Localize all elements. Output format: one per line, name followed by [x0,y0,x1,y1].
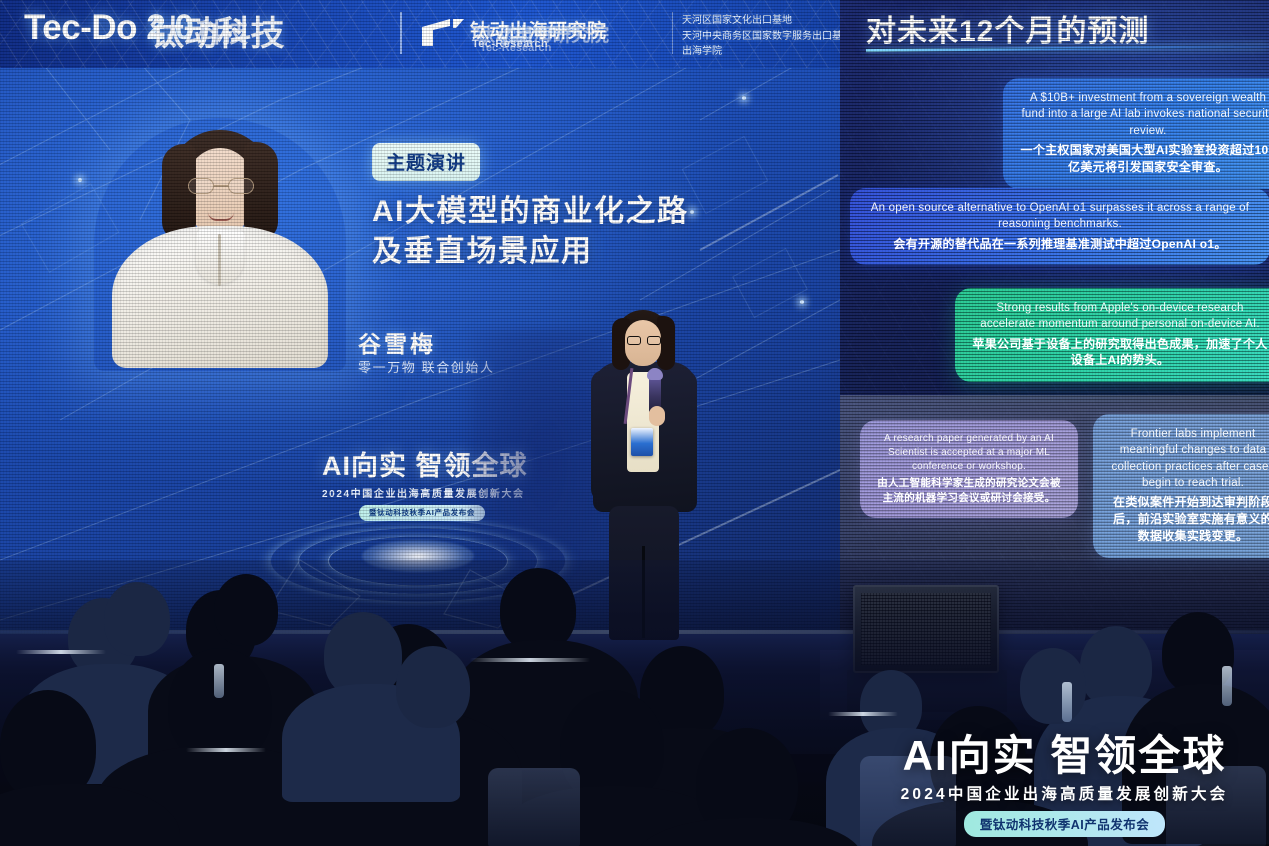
conference-subevent-pill: 暨钛动科技秋季AI产品发布会 [964,811,1166,837]
right-panel-title: 对未来12个月的预测 [866,6,1149,50]
audience-chair [488,768,580,846]
portrait-glasses-icon [188,178,254,194]
prediction-card: Strong results from Apple's on-device re… [955,288,1269,382]
export-base-label: 天河中央商务区国家数字服务出口基地 [682,29,840,45]
slide-speaker-name: 谷雪梅 [358,325,436,359]
conference-stage-photo: Tec-Do 2.0 钛动科技 科技 钛动出海研究院 钛动出海研究院 Tec-R… [0,0,1269,846]
glow-dot [742,96,746,100]
conference-name: 2024中国企业出海高质量发展创新大会 [872,782,1257,804]
prediction-card-en: Frontier labs implement meaningful chang… [1109,426,1269,491]
slide-title-line-1: AI大模型的商业化之路 [372,192,772,232]
prediction-card: Frontier labs implement meaningful chang… [1093,414,1269,558]
water-bottle [1222,666,1232,706]
keynote-badge: 主题演讲 [372,143,480,181]
banner-divider [400,12,402,54]
slide-title-line-2: 及垂直场景应用 [372,232,772,272]
export-base-label: 出海学院 [682,44,840,60]
portrait-zipper [218,234,221,286]
banner-divider-2 [672,12,673,54]
microphone-head [647,368,663,380]
top-banner-strip: Tec-Do 2.0 钛动科技 科技 钛动出海研究院 钛动出海研究院 Tec-R… [0,0,840,68]
presenter-hand [649,406,665,426]
audience-head [104,582,170,656]
glow-dot [78,178,82,182]
prediction-card: A research paper generated by an AI Scie… [860,420,1078,518]
prediction-card-cn: 由人工智能科学家生成的研究论文会被主流的机器学习会议或研讨会接受。 [876,476,1062,505]
audience-head [396,646,470,728]
export-base-labels: 天河区国家文化出口基地 天河中央商务区国家数字服务出口基地 出海学院 [682,13,840,60]
water-bottle [1062,682,1072,722]
prediction-card: A $10B+ investment from a sovereign weal… [1003,78,1269,189]
prediction-card-cn: 一个主权国家对美国大型AI实验室投资超过100亿美元将引发国家安全审查。 [1019,142,1269,176]
prediction-card-cn: 在类似案件开始到达审判阶段后，前沿实验室实施有意义的数据收集实践变更。 [1109,494,1269,544]
audience-head [214,574,278,646]
prediction-card: An open source alternative to OpenAI o1 … [850,188,1269,265]
prediction-card-cn: 会有开源的替代品在一系列推理基准测试中超过OpenAI o1。 [866,236,1254,253]
water-bottle [214,664,224,698]
tec-do-wordmark-ghost-cn-2: 科技 [196,13,248,50]
glow-dot [800,300,804,304]
speaker-portrait [104,130,336,365]
prediction-card-en: A research paper generated by an AI Scie… [876,432,1062,473]
prediction-card-en: A $10B+ investment from a sovereign weal… [1019,90,1269,139]
audience-head [1020,648,1086,724]
led-wall-right-panel: 对未来12个月的预测 A $10B+ investment from a sov… [840,0,1269,640]
presenter-glasses-icon [627,336,661,345]
prediction-card-en: An open source alternative to OpenAI o1 … [866,200,1254,233]
slide-title: AI大模型的商业化之路 及垂直场景应用 [372,192,772,271]
conference-slogan: AI向实 智领全球 [872,735,1257,778]
table-light-reflection [470,658,590,662]
prediction-card-en: Strong results from Apple's on-device re… [971,300,1269,333]
tec-research-logo-icon [420,19,466,47]
partner-college-name: 广州华南商贸职业学院 出海学院 [500,26,580,46]
table-light-reflection [186,748,266,752]
conference-lockup-overlay: AI向实 智领全球 2024中国企业出海高质量发展创新大会 暨钛动科技秋季AI产… [872,735,1257,837]
table-light-reflection [16,650,106,654]
prediction-card-cn: 苹果公司基于设备上的研究取得出色成果，加速了个人设备上AI的势头。 [971,336,1269,370]
presenter-badge [631,428,653,456]
table-light-reflection [828,712,898,716]
export-base-label: 天河区国家文化出口基地 [682,13,840,29]
